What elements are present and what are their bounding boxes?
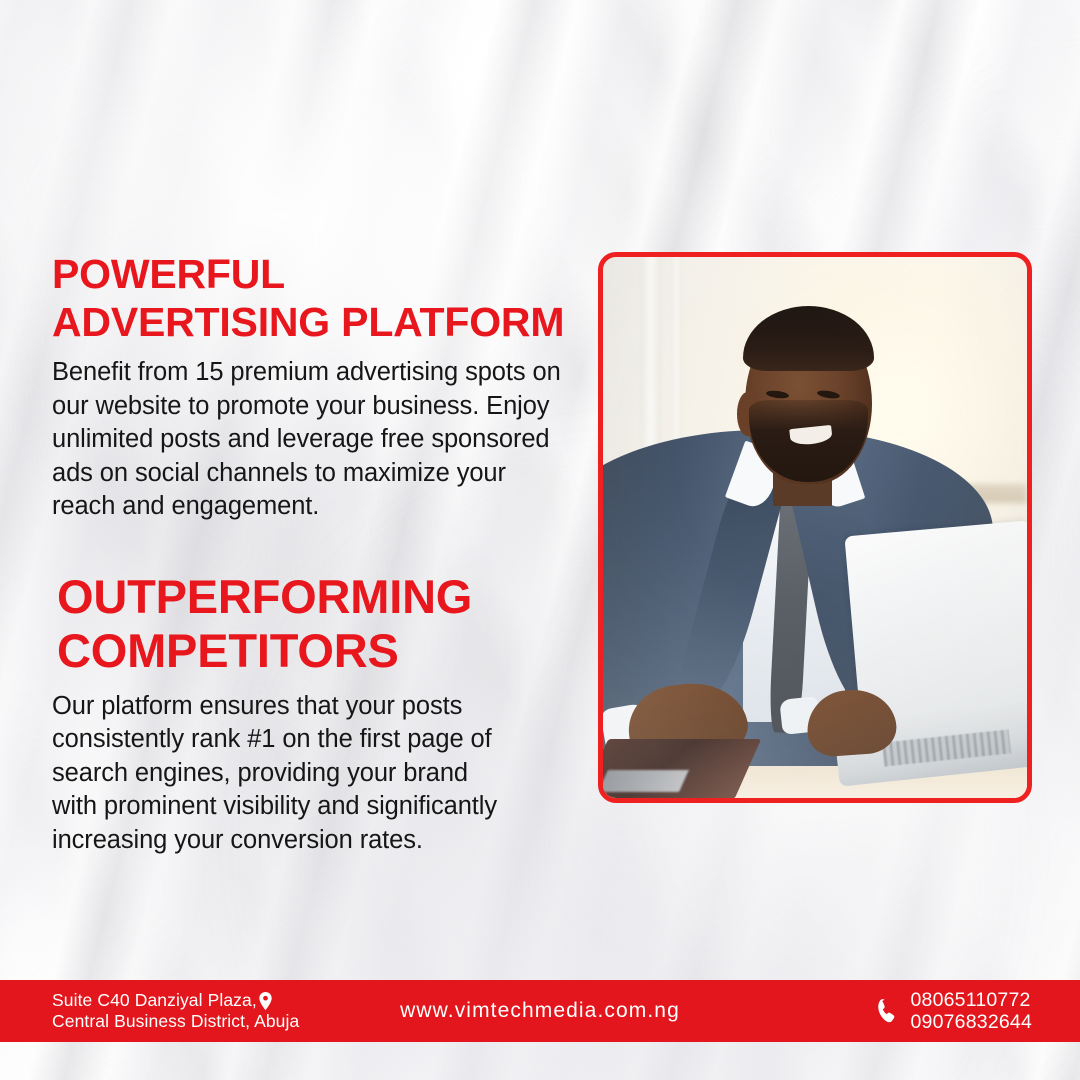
section-body: Our platform ensures that your posts con… [52, 690, 517, 858]
address-line-2: Central Business District, Abuja [52, 1011, 299, 1031]
footer-phone: 08065110772 09076832644 [877, 989, 1033, 1033]
address-line-1: Suite C40 Danziyal Plaza, [52, 990, 257, 1010]
section-heading: OUTPERFORMING COMPETITORS [57, 570, 568, 678]
phone-handset-icon [877, 998, 900, 1024]
section-powerful-advertising-platform: POWERFUL ADVERTISING PLATFORM Benefit fr… [52, 250, 568, 524]
section-outperforming-competitors: OUTPERFORMING COMPETITORS Our platform e… [52, 570, 568, 858]
advertising-poster: POWERFUL ADVERTISING PLATFORM Benefit fr… [0, 0, 1080, 1080]
phone-number-2: 09076832644 [911, 1011, 1033, 1033]
section-body: Benefit from 15 premium advertising spot… [52, 356, 568, 524]
photo-frame [598, 252, 1032, 803]
section-heading: POWERFUL ADVERTISING PLATFORM [52, 250, 568, 346]
phone-numbers: 08065110772 09076832644 [911, 989, 1033, 1033]
footer-address: Suite C40 Danziyal Plaza, Central Busine… [52, 990, 299, 1032]
business-man-laptop-photo [603, 257, 1027, 798]
footer-bar: Suite C40 Danziyal Plaza, Central Busine… [0, 980, 1080, 1042]
website-url[interactable]: www.vimtechmedia.com.ng [400, 999, 680, 1022]
text-column: POWERFUL ADVERTISING PLATFORM Benefit fr… [52, 250, 568, 857]
tablet-reflection [603, 770, 688, 792]
map-pin-icon [258, 992, 273, 1010]
address-lines: Suite C40 Danziyal Plaza, Central Busine… [52, 990, 299, 1032]
phone-number-1: 08065110772 [911, 989, 1031, 1011]
